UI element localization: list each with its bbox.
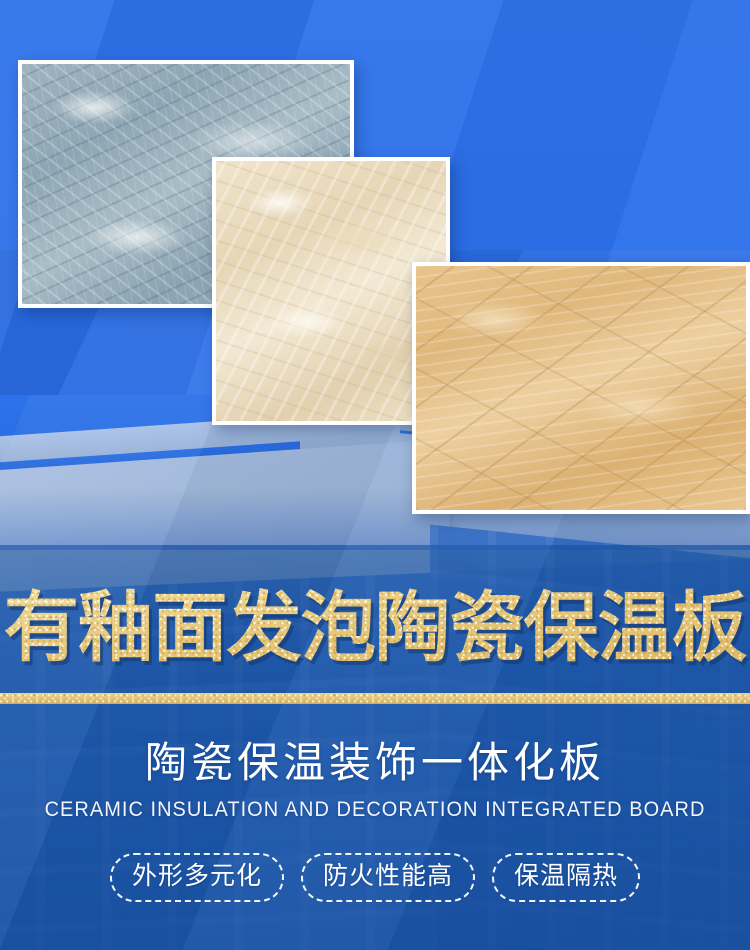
headline-title: 有釉面发泡陶瓷保温板 xyxy=(4,586,747,672)
subtitle-chinese: 陶瓷保温装饰一体化板 xyxy=(0,737,750,789)
feature-badge-fire-resistance: 防火性能高 xyxy=(301,853,475,902)
golden-marble-tile xyxy=(412,262,750,514)
gold-divider xyxy=(0,693,750,704)
subtitle-english: CERAMIC INSULATION AND DECORATION INTEGR… xyxy=(19,797,732,823)
golden-marble-texture xyxy=(416,266,746,510)
feature-badge-thermal-insulation: 保温隔热 xyxy=(492,853,640,902)
feature-badge-shape-variety: 外形多元化 xyxy=(110,853,284,902)
feature-badge-group: 外形多元化 防火性能高 保温隔热 xyxy=(0,853,750,902)
product-promo-banner: 有釉面发泡陶瓷保温板 陶瓷保温装饰一体化板 CERAMIC INSULATION… xyxy=(0,0,750,950)
